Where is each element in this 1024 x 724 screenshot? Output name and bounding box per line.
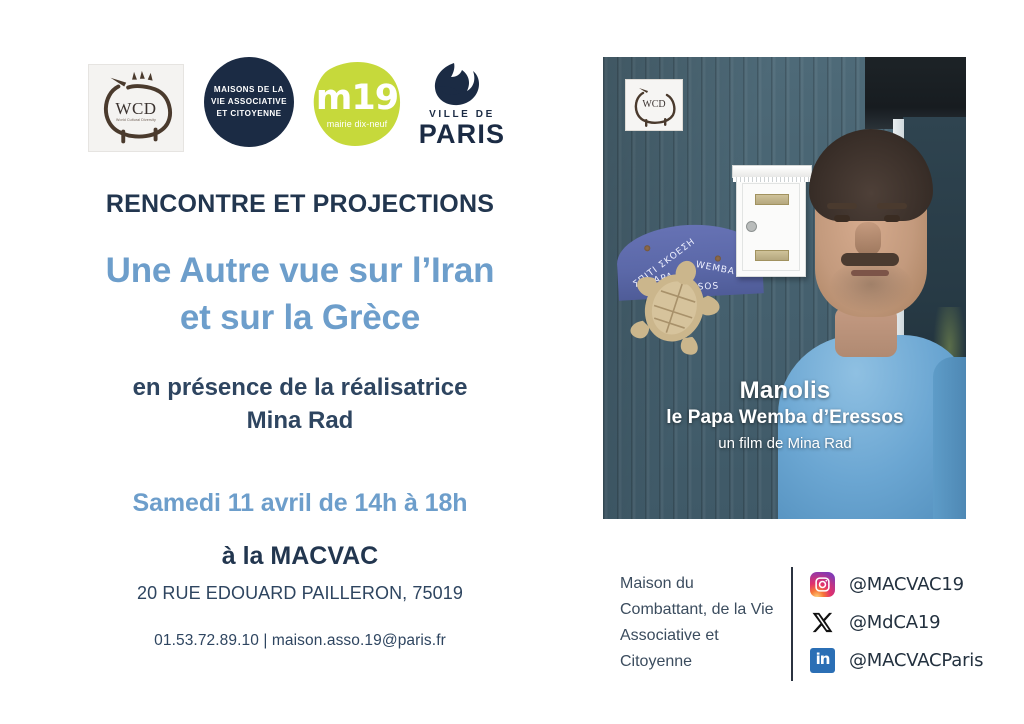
- macvac-logo: MAISONS DE LA VIE ASSOCIATIVE ET CITOYEN…: [204, 57, 294, 147]
- person-brow-left: [827, 203, 857, 209]
- m19-logo-word: m19: [310, 81, 404, 116]
- instagram-handle[interactable]: @MACVAC19: [849, 574, 964, 595]
- footer-venue-address: Maison du Combattant, de la Vie Associat…: [620, 571, 780, 675]
- event-date: Samedi 11 avril de 14h à 18h: [40, 489, 560, 518]
- instagram-icon[interactable]: [809, 571, 836, 598]
- person-brow-right: [877, 203, 907, 209]
- event-presence-line-1: en présence de la réalisatrice: [40, 371, 560, 404]
- event-address: 20 RUE EDOUARD PAILLERON, 75019: [40, 583, 560, 604]
- film-subtitle: le Papa Wemba d’Eressos: [640, 407, 930, 429]
- person-eye-right: [884, 215, 900, 222]
- paris-boat-icon: [432, 61, 492, 107]
- event-presence: en présence de la réalisatrice Mina Rad: [40, 371, 560, 437]
- event-venue: à la MACVAC: [40, 542, 560, 571]
- linkedin-icon[interactable]: in: [809, 647, 836, 674]
- person-moustache: [841, 253, 899, 266]
- event-title: Une Autre vue sur l’Iran et sur la Grèce: [40, 247, 560, 341]
- mailbox-lock: [746, 221, 757, 232]
- event-kicker: RENCONTRE ET PROJECTIONS: [40, 190, 560, 219]
- event-presence-line-2: Mina Rad: [40, 404, 560, 437]
- mailbox-scallop-trim: [733, 177, 811, 182]
- wcd-wall-sign-text: WCD: [626, 99, 682, 110]
- wcd-logo-subtitle: World Cultural Diversity: [89, 118, 183, 122]
- event-title-line-2: et sur la Grèce: [40, 294, 560, 341]
- mailbox-plate-top: [755, 194, 789, 205]
- mailbox: [736, 175, 806, 277]
- macvac-logo-line-3: ET CITOYENNE: [211, 108, 287, 120]
- sign-bolt-left: [644, 245, 650, 251]
- social-links: @MACVAC19 @MdCA19 in @MACVACParis: [809, 565, 999, 679]
- event-info-column: RENCONTRE ET PROJECTIONS Une Autre vue s…: [40, 190, 560, 650]
- film-credit: un film de Mina Rad: [640, 435, 930, 452]
- person-nose: [855, 222, 881, 256]
- m19-logo-subtitle: mairie dix-neuf: [310, 119, 404, 129]
- turtle-sculpture-icon: [627, 252, 723, 360]
- person-eye-left: [834, 215, 850, 222]
- macvac-logo-line-1: MAISONS DE LA: [211, 84, 287, 96]
- social-row-x[interactable]: @MdCA19: [809, 603, 999, 641]
- x-handle[interactable]: @MdCA19: [849, 612, 940, 633]
- social-row-linkedin[interactable]: in @MACVACParis: [809, 641, 999, 679]
- footer-divider: [791, 567, 793, 681]
- mairie-19-logo: m19 mairie dix-neuf: [310, 59, 404, 151]
- person-arm: [933, 357, 966, 519]
- wcd-wall-sign: WCD: [625, 79, 683, 131]
- wcd-logo: WCD World Cultural Diversity: [88, 64, 184, 152]
- film-still-photo: WCD ΣΠΙΤΙ ΣΚΟΕΣΗ PAPA WEMBA ERESSOS: [603, 57, 966, 519]
- linkedin-handle[interactable]: @MACVACParis: [849, 650, 983, 671]
- footer-right: Maison du Combattant, de la Vie Associat…: [603, 565, 1003, 685]
- wcd-logo-text: WCD: [89, 99, 183, 119]
- macvac-logo-line-2: VIE ASSOCIATIVE: [211, 96, 287, 108]
- film-title: Manolis: [640, 377, 930, 405]
- event-contact: 01.53.72.89.10 | maison.asso.19@paris.fr: [40, 632, 560, 650]
- x-twitter-icon[interactable]: [809, 609, 836, 636]
- event-title-line-1: Une Autre vue sur l’Iran: [40, 247, 560, 294]
- social-row-instagram[interactable]: @MACVAC19: [809, 565, 999, 603]
- mailbox-plate-bottom: [755, 250, 789, 261]
- ville-de-paris-logo: VILLE DE PARIS: [416, 61, 508, 151]
- film-title-overlay: Manolis le Papa Wemba d’Eressos un film …: [640, 377, 930, 452]
- paris-logo-line-2: PARIS: [416, 119, 508, 149]
- partner-logos-row: WCD World Cultural Diversity MAISONS DE …: [88, 57, 508, 155]
- person-mouth: [851, 270, 889, 276]
